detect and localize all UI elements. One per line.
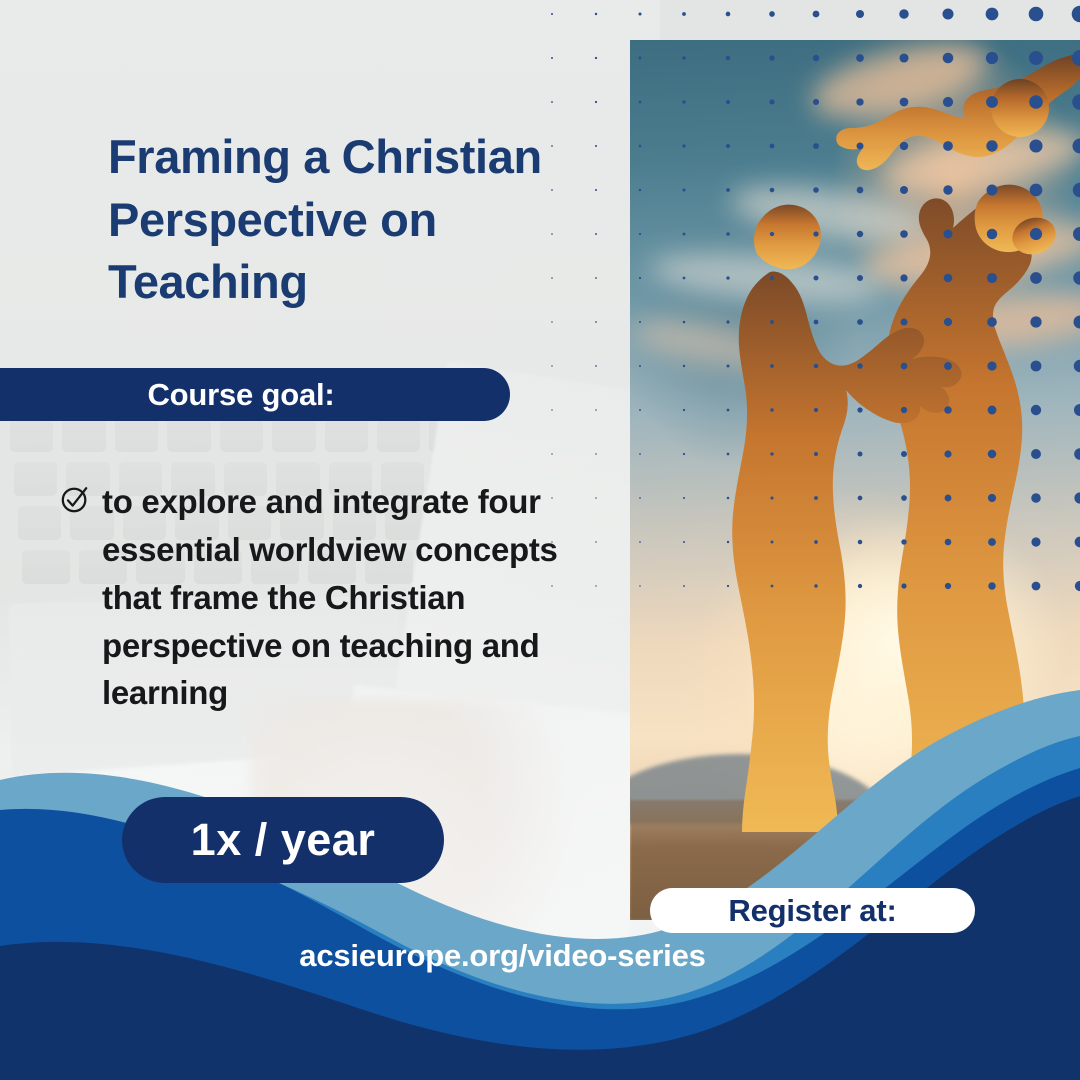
frequency-badge: 1x / year — [122, 797, 444, 883]
course-goal-banner: Course goal: — [0, 368, 510, 421]
course-goal-label: Course goal: — [147, 377, 334, 413]
register-badge[interactable]: Register at: — [650, 888, 975, 933]
check-circle-icon — [60, 484, 90, 514]
register-url[interactable]: acsieurope.org/video-series — [0, 938, 1080, 974]
promotional-poster: Framing a Christian Perspective on Teach… — [0, 0, 1080, 1080]
register-label: Register at: — [728, 893, 896, 929]
child-silhouette — [836, 54, 1080, 170]
frequency-label: 1x / year — [191, 814, 376, 866]
page-title: Framing a Christian Perspective on Teach… — [108, 126, 628, 314]
